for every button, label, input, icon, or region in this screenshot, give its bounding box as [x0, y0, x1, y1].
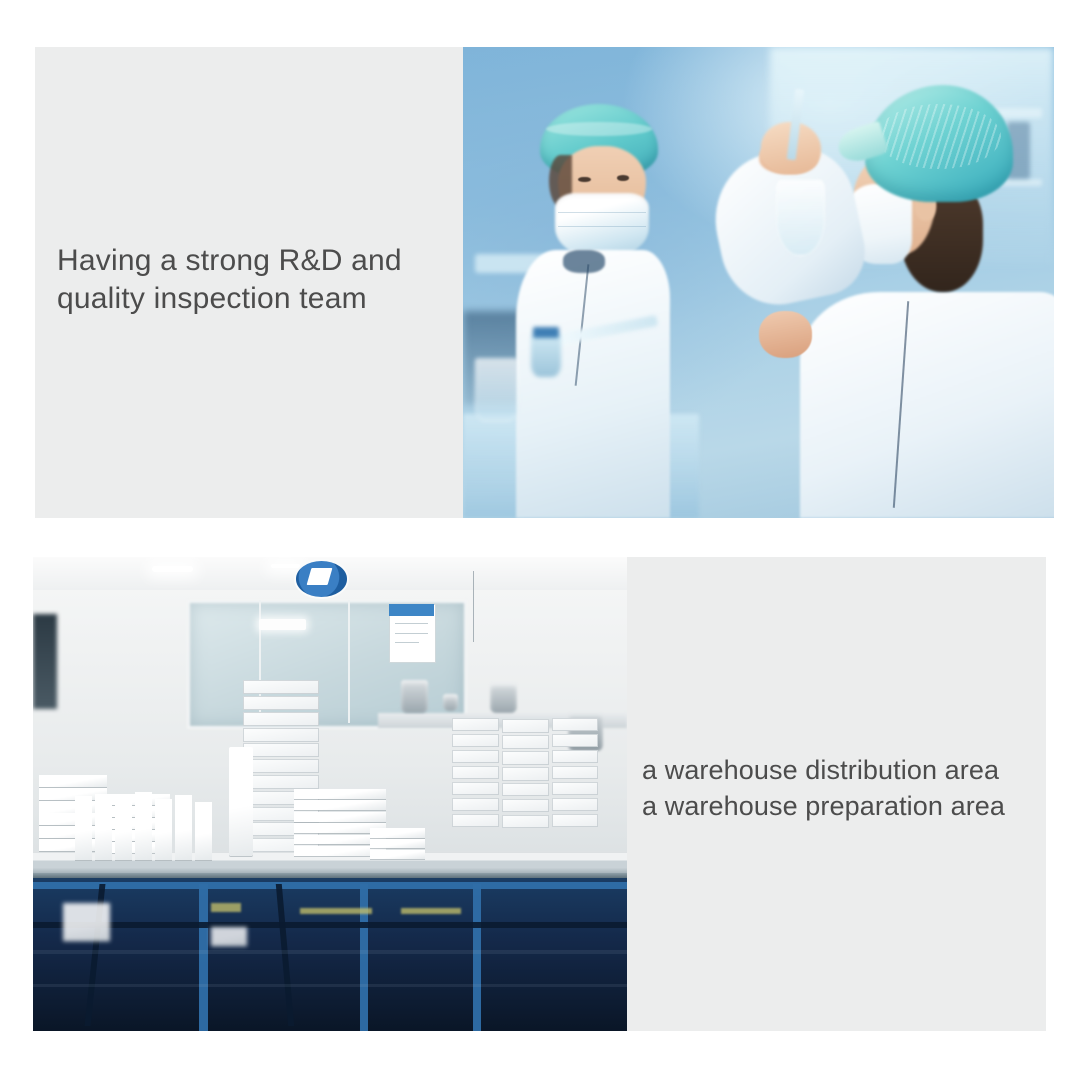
steel-pot-1	[401, 680, 428, 713]
notice-line-1	[395, 623, 428, 624]
slide-canvas: Having a strong R&D and quality inspecti…	[0, 0, 1080, 1080]
carton	[243, 696, 319, 710]
sample-vial-cap	[533, 327, 559, 337]
trolley-leg-1	[199, 884, 207, 1031]
carton	[452, 782, 498, 795]
technician-b-lower-hand	[759, 311, 812, 358]
wall-opening-left	[33, 614, 57, 709]
carton-stack-mid-front	[294, 785, 425, 861]
trolley-leg-2	[360, 884, 368, 1031]
carton	[39, 775, 107, 787]
hanging-cord	[473, 571, 474, 642]
carton	[552, 718, 598, 731]
window-mullion-2	[348, 600, 350, 723]
window-interior-lamp	[259, 619, 307, 630]
warehouse-packing-photo	[33, 557, 627, 1031]
carton-stack-background	[449, 718, 627, 851]
floor-line-1	[33, 950, 627, 954]
bottom-caption-text: a warehouse distribution area a warehous…	[642, 752, 1052, 824]
top-caption-text: Having a strong R&D and quality inspecti…	[57, 242, 457, 318]
technician-b-lab-coat	[800, 292, 1054, 518]
carton	[452, 814, 498, 827]
carton	[552, 734, 598, 747]
carton	[452, 798, 498, 811]
carton	[370, 850, 425, 859]
technician-a-eye-left	[578, 177, 590, 183]
floor-marking-1	[211, 903, 241, 912]
carton	[502, 815, 548, 828]
carton-upright	[75, 796, 92, 860]
technician-a-collar	[563, 250, 604, 274]
notice-line-3	[395, 642, 419, 643]
floor-marking-2	[300, 908, 371, 915]
carton	[502, 767, 548, 780]
technician-a-mask-pleat-2	[558, 226, 647, 227]
ceiling-light-1	[152, 566, 194, 571]
floor-line-2	[33, 984, 627, 988]
carton	[502, 783, 548, 796]
carton	[552, 798, 598, 811]
carton	[502, 719, 548, 732]
carton-row-upright	[75, 789, 229, 860]
sample-vial	[531, 334, 561, 376]
glass-beaker	[475, 358, 518, 421]
trolley-rail-top	[33, 882, 627, 890]
floor-marking-3	[401, 908, 460, 915]
carton	[370, 828, 425, 837]
carton	[243, 680, 319, 694]
carton	[452, 718, 498, 731]
technician-a-mask-pleat-1	[558, 212, 647, 213]
trolley-crossbar	[33, 922, 627, 928]
technician-b-hairnet-texture	[877, 104, 1001, 170]
technician-a-lab-coat	[516, 250, 670, 518]
carton	[243, 712, 319, 726]
carton	[452, 766, 498, 779]
carton	[243, 759, 319, 773]
ceiling-light-2	[271, 564, 301, 569]
carton	[452, 750, 498, 763]
steel-pot-2	[490, 683, 517, 714]
carton	[452, 734, 498, 747]
carton	[502, 799, 548, 812]
carton	[243, 743, 319, 757]
carton	[502, 735, 548, 748]
carton	[552, 750, 598, 763]
carton	[552, 766, 598, 779]
carton-upright	[195, 802, 212, 860]
wall-notice-header	[389, 604, 434, 615]
carton	[552, 782, 598, 795]
tall-white-bottle	[229, 747, 253, 856]
floor-paper-2	[211, 927, 247, 946]
carton-upright	[115, 798, 132, 861]
carton-upright	[175, 795, 192, 860]
carton-upright	[135, 792, 152, 860]
steel-pot-3	[443, 694, 458, 711]
carton-upright	[95, 794, 112, 861]
notice-line-2	[395, 633, 428, 634]
carton	[552, 814, 598, 827]
carton	[243, 728, 319, 742]
technician-a-eye-right	[617, 175, 629, 181]
carton	[294, 800, 385, 810]
warehouse-floor	[33, 878, 627, 1031]
lab-inspection-photo	[463, 47, 1054, 518]
glass-flask	[776, 179, 825, 256]
trolley-leg-3	[473, 884, 481, 1031]
carton	[294, 789, 385, 799]
floor-paper-1	[63, 903, 111, 941]
carton	[294, 812, 385, 822]
carton	[370, 839, 425, 848]
carton-upright	[155, 799, 172, 860]
carton	[502, 751, 548, 764]
